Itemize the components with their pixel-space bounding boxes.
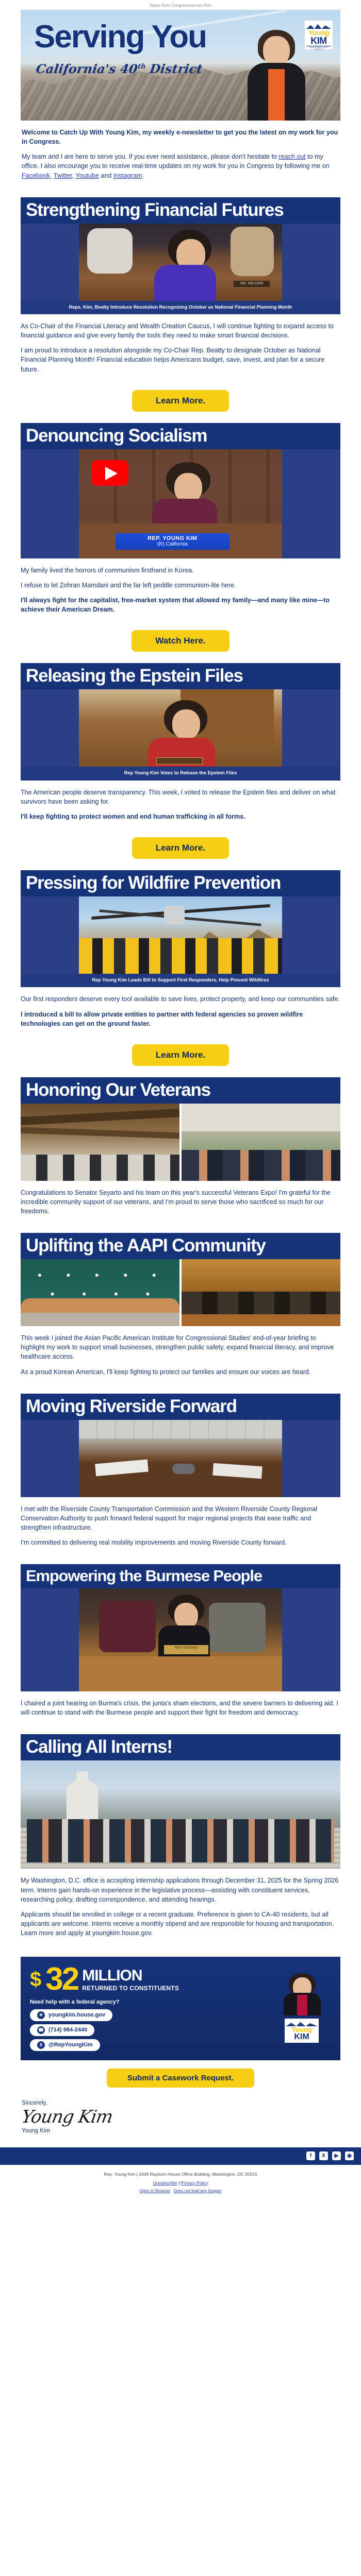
burmese-p1: I chaired a joint hearing on Burma's cri…	[21, 1699, 340, 1717]
section-image-epstein: Rep Young Kim Votes to Release the Epste…	[21, 689, 340, 780]
casework-returned: RETURNED TO CONSTITUENTS	[82, 1985, 179, 1991]
aapi-p1: This week I joined the Asian Pacific Ame…	[21, 1333, 340, 1361]
aapi-p2: As a proud Korean American, I'll keep fi…	[21, 1367, 340, 1377]
photo-financial: MR. MEUSER	[79, 224, 282, 301]
section-banner-riverside: Moving Riverside Forward	[21, 1394, 340, 1420]
scene-chair-left	[99, 1601, 156, 1652]
scene-group	[182, 1150, 340, 1181]
scene-first-responders	[79, 938, 282, 974]
photo-veterans-right	[182, 1104, 340, 1181]
youtube-icon[interactable]: ▶	[332, 2151, 341, 2160]
footer-sep: |	[177, 2180, 181, 2185]
website-pill[interactable]: ☀ youngkim.house.gov	[30, 2009, 112, 2021]
conference-phone-icon	[172, 1464, 195, 1474]
section-body-riverside: I met with the Riverside County Transpor…	[21, 1497, 340, 1555]
scene-canopy	[182, 1104, 340, 1131]
cta-row-epstein: Learn More.	[21, 829, 340, 861]
lower-third-name: REP. YOUNG KIM	[116, 535, 229, 541]
logo-young-text: Young	[306, 29, 331, 36]
casework-portrait-block: Young KIM	[271, 1971, 332, 2043]
footer-bottom-links: Open in Browser Does not load any images	[0, 2188, 361, 2201]
casework-panel: $ 32 MILLION RETURNED TO CONSTITUENTS Ne…	[21, 1957, 340, 2060]
scene-attendees	[21, 1155, 179, 1181]
casework-portrait	[271, 1971, 332, 2015]
facebook-link[interactable]: Facebook	[22, 172, 50, 179]
logo-kim-text: KIM	[306, 36, 331, 45]
socialism-p2: I refuse to let Zohran Mamdani and the f…	[21, 581, 340, 590]
logo-district-text: CALIFORNIA'S 40TH DISTRICT	[306, 46, 331, 50]
learn-more-button-financial[interactable]: Learn More.	[132, 390, 229, 412]
sincerely-text: Sincerely,	[22, 2100, 339, 2106]
socialism-p1: My family lived the horrors of communism…	[21, 566, 340, 575]
section-banner-burmese: Empowering the Burmese People	[21, 1564, 340, 1588]
unsubscribe-link[interactable]: Unsubscribe	[153, 2180, 177, 2185]
riverside-p2: I'm committed to delivering real mobilit…	[21, 1538, 340, 1547]
hero-subtitle-post: District	[144, 61, 203, 76]
section-title-socialism: Denouncing Socialism	[26, 427, 335, 445]
section-title-wildfire: Pressing for Wildfire Prevention	[26, 874, 335, 892]
section-body-epstein: The American people deserve transparency…	[21, 781, 340, 829]
section-image-burmese: REP. HUIZENGA	[21, 1588, 340, 1691]
scene-beam-2	[21, 1127, 179, 1139]
photo-interns	[21, 1760, 340, 1869]
epstein-p1: The American people deserve transparency…	[21, 788, 340, 806]
photo-caption-financial: Reps. Kim, Beatty Introduce Resolution R…	[21, 301, 340, 314]
nameplate-kim	[156, 757, 203, 765]
dollar-sign: $	[30, 1969, 41, 1990]
young-kim-logo: Young KIM CALIFORNIA'S 40TH DISTRICT	[304, 20, 333, 50]
wildfire-p1: Our first responders deserve every tool …	[21, 994, 340, 1004]
scene-intern-group	[27, 1819, 334, 1862]
scene-suit	[154, 265, 216, 301]
signature-block: Sincerely, Young Kim Young Kim	[21, 2091, 340, 2139]
twitter-link[interactable]: Twitter	[54, 172, 72, 179]
photo-epstein	[79, 689, 282, 767]
scene-desk	[182, 1314, 340, 1326]
section-title-riverside: Moving Riverside Forward	[26, 1397, 335, 1415]
intro-p1a: My team and I are here to serve you. If …	[22, 153, 279, 160]
signature-script: Young Kim	[20, 2108, 114, 2126]
hero-subtitle: California's 40th District	[35, 61, 203, 76]
interns-p1: My Washington, D.C. office is accepting …	[21, 1876, 340, 1904]
mountain-icon	[286, 2020, 318, 2026]
email-newsletter: News from Congresswoman Kim Serving You …	[0, 0, 361, 2201]
hero-title: Serving You	[34, 21, 206, 53]
hearing-scene: MR. MEUSER	[79, 224, 282, 301]
watch-here-button[interactable]: Watch Here.	[132, 630, 229, 652]
expo-booth-scene	[182, 1104, 340, 1181]
house-floor-scene: REP. YOUNG KIM (R) California	[79, 449, 282, 558]
cta-row-wildfire: Learn More.	[21, 1036, 340, 1068]
section-body-wildfire: Our first responders deserve every tool …	[21, 987, 340, 1036]
learn-more-button-wildfire[interactable]: Learn More.	[132, 1044, 229, 1066]
section-banner-epstein: Releasing the Epstein Files	[21, 663, 340, 689]
footer-address: Rep. Young Kim | 2439 Rayburn House Offi…	[0, 2165, 361, 2180]
intro-body: My team and I are here to serve you. If …	[22, 152, 339, 180]
section-title-veterans: Honoring Our Veterans	[26, 1081, 335, 1099]
handle-text: @RepYoungKim	[48, 2042, 93, 2048]
section-body-socialism: My family lived the horrors of communism…	[21, 558, 340, 622]
nameplate-meuser: MR. MEUSER	[234, 281, 270, 287]
section-banner-socialism: Denouncing Socialism	[21, 423, 340, 449]
website-text: youngkim.house.gov	[48, 2012, 105, 2018]
intro-lead: Welcome to Catch Up With Young Kim, my w…	[21, 128, 340, 146]
aapi-interview-scene	[21, 1259, 179, 1326]
riverside-meeting-scene	[79, 1420, 282, 1497]
casework-million-wrap: MILLION RETURNED TO CONSTITUENTS	[82, 1968, 179, 1991]
intro-block: Welcome to Catch Up With Young Kim, my w…	[21, 121, 340, 188]
casework-million: MILLION	[82, 1968, 179, 1984]
cta-row-financial: Learn More.	[21, 382, 340, 414]
footer-social-bar: f X ▶ ◉	[0, 2147, 361, 2165]
section-body-veterans: Congratulations to Senator Seyarto and h…	[21, 1181, 340, 1224]
nameplate-huizenga: REP. HUIZENGA	[164, 1645, 208, 1654]
burma-hearing-scene: REP. HUIZENGA	[79, 1588, 282, 1691]
scene-beam	[21, 1109, 179, 1125]
signature-name: Young Kim	[22, 2128, 339, 2134]
aapi-briefing-scene	[182, 1259, 340, 1326]
intro-lead-text: Welcome to Catch Up With Young Kim, my w…	[22, 128, 339, 146]
capitol-building-icon	[46, 1771, 119, 1821]
portrait-blouse	[268, 69, 285, 121]
casework-logo-kim: KIM	[286, 2033, 318, 2041]
hero-banner: Serving You California's 40th District Y…	[21, 10, 340, 121]
hero-subtitle-pre: California's 40	[35, 61, 139, 76]
intro-and: and	[99, 172, 113, 179]
mountain-icon	[306, 22, 331, 29]
photo-aapi-left	[21, 1259, 179, 1326]
scene-face	[172, 709, 200, 739]
x-icon: X	[37, 2041, 45, 2049]
wildfire-bold: I introduced a bill to allow private ent…	[21, 1010, 340, 1028]
social-handle-pill[interactable]: X @RepYoungKim	[30, 2039, 100, 2051]
scene-face	[174, 1603, 198, 1629]
scene-rug	[21, 1313, 179, 1326]
submit-casework-row: Submit a Casework Request.	[21, 2060, 340, 2091]
scene-bench	[79, 1656, 282, 1691]
scene-person-right	[231, 227, 274, 276]
section-image-financial: MR. MEUSER Reps. Kim, Beatty Introduce R…	[21, 224, 340, 314]
section-banner-aapi: Uplifting the AAPI Community	[21, 1233, 340, 1259]
scene-ceiling	[79, 1420, 282, 1438]
section-body-interns: My Washington, D.C. office is accepting …	[21, 1869, 340, 1945]
riverside-p1: I met with the Riverside County Transpor…	[21, 1504, 340, 1532]
scene-chair-right	[209, 1603, 266, 1652]
photo-wildfire	[79, 896, 282, 974]
section-banner-financial: Strengthening Financial Futures	[21, 197, 340, 224]
financial-p2: I am proud to introduce a resolution alo…	[21, 346, 340, 374]
phone-pill[interactable]: ☎ (714) 984-2440	[30, 2024, 94, 2036]
phone-icon: ☎	[37, 2026, 45, 2034]
section-title-financial: Strengthening Financial Futures	[26, 201, 335, 219]
office-scene	[79, 689, 282, 767]
section-image-interns	[21, 1760, 340, 1869]
casework-logo: Young KIM	[285, 2019, 319, 2043]
casework-amount: 32	[45, 1965, 78, 1994]
footer-links: Unsubscribe | Privacy Policy	[0, 2180, 361, 2188]
video-lower-third: REP. YOUNG KIM (R) California	[116, 533, 229, 550]
twitter-x-icon[interactable]: X	[319, 2151, 328, 2160]
lower-third-state: (R) California	[116, 541, 229, 547]
globe-icon: ☀	[37, 2011, 45, 2019]
section-image-riverside	[21, 1420, 340, 1497]
interns-p2: Applicants should be enrolled in college…	[21, 1910, 340, 1938]
privacy-policy-link[interactable]: Privacy Policy	[181, 2180, 208, 2185]
scene-person-left	[87, 228, 133, 274]
preheader-text: News from Congresswoman Kim	[0, 0, 361, 10]
congresswoman-portrait	[245, 23, 306, 121]
financial-p1: As Co-Chair of the Financial Literacy an…	[21, 321, 340, 340]
section-image-socialism: REP. YOUNG KIM (R) California	[21, 449, 340, 558]
view-images-link[interactable]: Does not load any images	[174, 2189, 222, 2193]
intro-paragraph: My team and I are here to serve you. If …	[21, 152, 340, 180]
learn-more-button-epstein[interactable]: Learn More.	[132, 837, 229, 859]
capitol-interns-scene	[21, 1760, 340, 1869]
intro-period: .	[142, 172, 143, 179]
youtube-link[interactable]: Youtube	[76, 172, 99, 179]
reach-out-link[interactable]: reach out	[279, 153, 306, 160]
portrait-face	[263, 36, 290, 67]
photo-burmese: REP. HUIZENGA	[79, 1588, 282, 1691]
instagram-icon[interactable]: ◉	[345, 2151, 354, 2160]
veterans-p1: Congratulations to Senator Seyarto and h…	[21, 1188, 340, 1216]
photo-aapi-right	[182, 1259, 340, 1326]
section-image-wildfire: Rep Young Kim Leads Bill to Support Firs…	[21, 896, 340, 987]
section-image-veterans	[21, 1104, 340, 1181]
section-title-burmese: Empowering the Burmese People	[26, 1568, 335, 1584]
cta-row-socialism: Watch Here.	[21, 622, 340, 654]
socialism-bold: I'll always fight for the capitalist, fr…	[21, 596, 340, 614]
youtube-play-icon[interactable]	[91, 460, 128, 486]
section-title-epstein: Releasing the Epstein Files	[26, 667, 335, 685]
phone-text: (714) 984-2440	[48, 2027, 87, 2033]
rotor-hub	[164, 906, 185, 924]
epstein-bold: I'll keep fighting to protect women and …	[21, 812, 340, 821]
section-body-burmese: I chaired a joint hearing on Burma's cri…	[21, 1691, 340, 1725]
open-in-browser-link[interactable]: Open in Browser	[140, 2189, 171, 2193]
section-banner-veterans: Honoring Our Veterans	[21, 1077, 340, 1104]
instagram-link[interactable]: Instagram	[113, 172, 142, 179]
section-body-aapi: This week I joined the Asian Pacific Ame…	[21, 1326, 340, 1384]
photo-caption-wildfire: Rep Young Kim Leads Bill to Support Firs…	[21, 974, 340, 987]
facebook-icon[interactable]: f	[306, 2151, 315, 2160]
section-banner-wildfire: Pressing for Wildfire Prevention	[21, 870, 340, 896]
photo-caption-epstein: Rep Young Kim Votes to Release the Epste…	[21, 767, 340, 780]
photo-riverside	[79, 1420, 282, 1497]
section-body-financial: As Co-Chair of the Financial Literacy an…	[21, 314, 340, 382]
section-title-aapi: Uplifting the AAPI Community	[26, 1236, 335, 1255]
helicopter-scene	[79, 896, 282, 974]
portrait-top	[297, 1995, 307, 2015]
expo-pavilion-scene	[21, 1104, 179, 1181]
submit-casework-button[interactable]: Submit a Casework Request.	[107, 2069, 254, 2088]
section-title-interns: Calling All Interns!	[26, 1738, 335, 1756]
section-image-aapi	[21, 1259, 340, 1326]
scene-ceiling-slats	[182, 1259, 340, 1294]
section-banner-interns: Calling All Interns!	[21, 1734, 340, 1760]
photo-socialism-video[interactable]: REP. YOUNG KIM (R) California	[79, 449, 282, 558]
photo-veterans-left	[21, 1104, 179, 1181]
